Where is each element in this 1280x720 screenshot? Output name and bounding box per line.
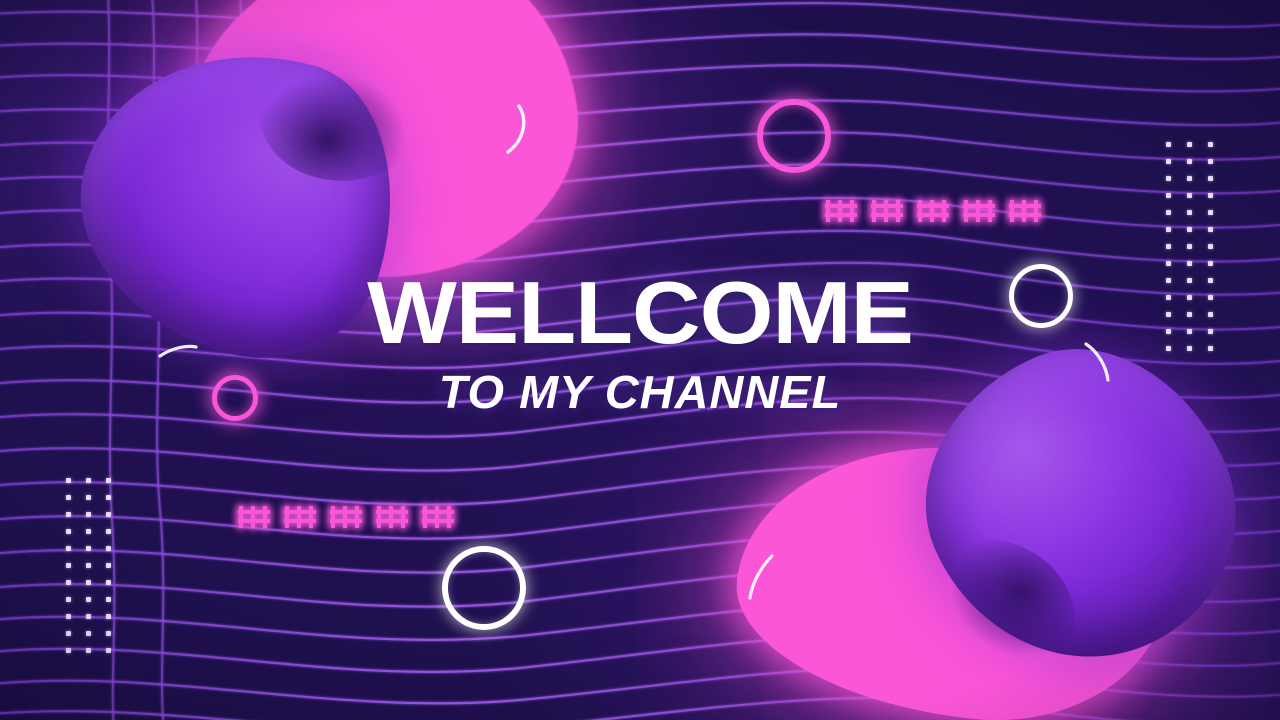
headline-block: WELLCOME TO MY CHANNEL bbox=[0, 270, 1280, 416]
title-text: WELLCOME bbox=[0, 270, 1280, 356]
banner-canvas: WELLCOME TO MY CHANNEL bbox=[0, 0, 1280, 720]
arc-accent-top-left bbox=[508, 106, 524, 152]
arc-accent-bottom bbox=[750, 556, 772, 598]
subtitle-text: TO MY CHANNEL bbox=[0, 368, 1280, 416]
